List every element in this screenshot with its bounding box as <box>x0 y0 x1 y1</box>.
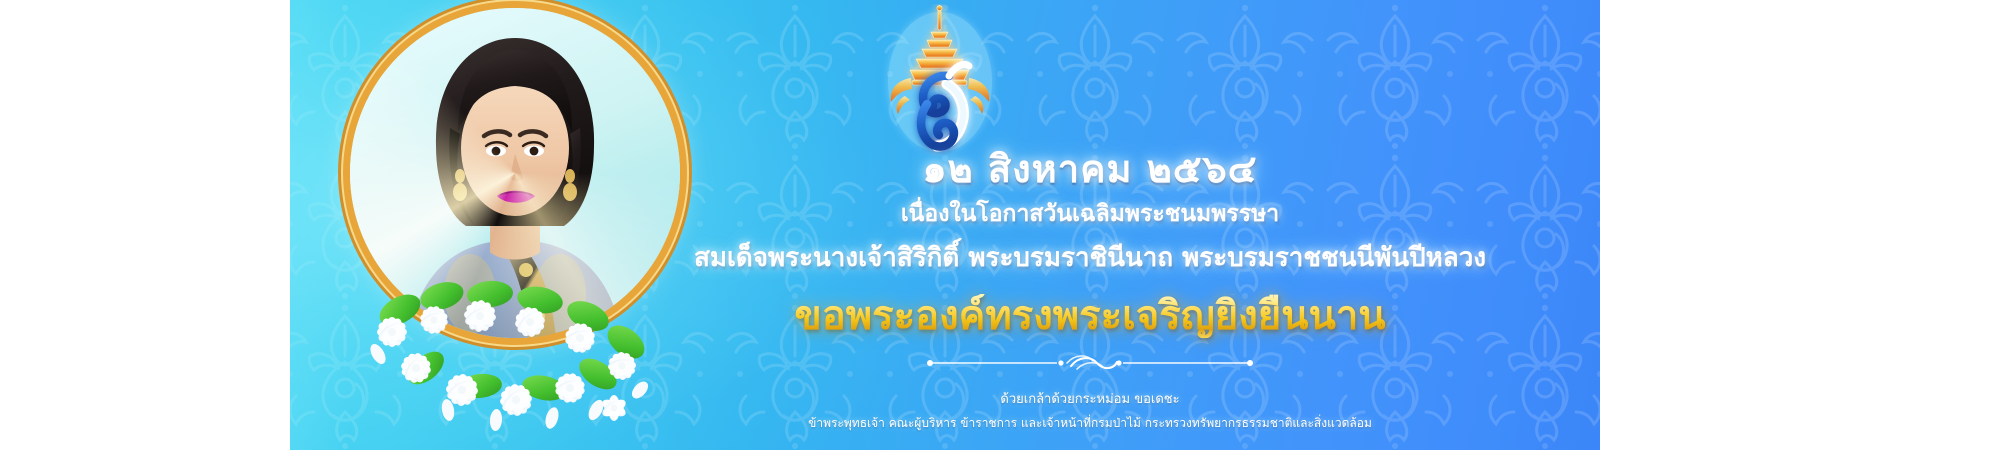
footer-humble-line: ด้วยเกล้าด้วยกระหม่อม ขอเดชะ <box>620 388 1560 409</box>
page-margin-right <box>1600 0 2000 450</box>
banner-artwork: ๑๒ สิงหาคม ๒๕๖๔ เนื่องในโอกาสวันเฉลิมพระ… <box>290 0 1600 450</box>
divider-flourish-icon <box>925 352 1255 374</box>
greeting-text-block: ๑๒ สิงหาคม ๒๕๖๔ เนื่องในโอกาสวันเฉลิมพระ… <box>620 150 1560 433</box>
banner-root: ๑๒ สิงหาคม ๒๕๖๔ เนื่องในโอกาสวันเฉลิมพระ… <box>0 0 2000 450</box>
celebration-date: ๑๒ สิงหาคม ๒๕๖๔ <box>620 150 1560 190</box>
occasion-line: เนื่องในโอกาสวันเฉลิมพระชนมพรรษา <box>620 196 1560 232</box>
decorative-divider <box>925 352 1255 374</box>
blessing-line: ขอพระองค์ทรงพระเจริญยิ่งยืนนาน <box>620 294 1560 338</box>
footer-signatories-line: ข้าพระพุทธเจ้า คณะผู้บริหาร ข้าราชการ แล… <box>620 414 1560 433</box>
page-margin-left <box>0 0 290 450</box>
royal-title-line: สมเด็จพระนางเจ้าสิริกิติ์ พระบรมราชินีนา… <box>620 237 1560 278</box>
royal-cypher-emblem <box>865 4 1015 156</box>
